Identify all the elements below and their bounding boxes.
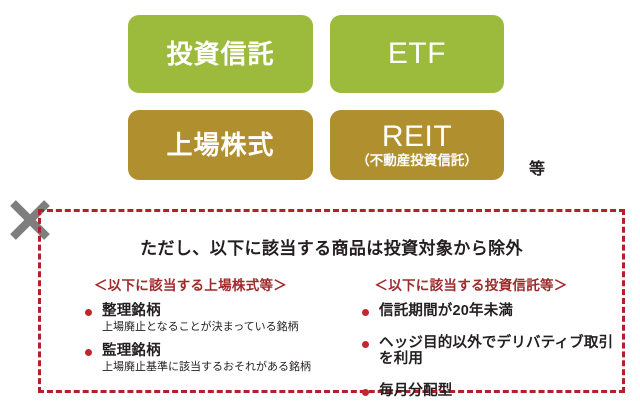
exclusion-panel: ただし、以下に該当する商品は投資対象から除外 ＜以下に該当する上場株式等＞ 整理…	[38, 209, 625, 393]
product-box-listed-stock[interactable]: 上場株式	[128, 110, 313, 180]
product-box-investment-trust[interactable]: 投資信託	[128, 15, 313, 93]
list-item-title: 監理銘柄	[102, 343, 328, 360]
list-item: 信託期間が20年未満	[358, 303, 622, 320]
list-item: ヘッジ目的以外でデリバティブ取引を利用	[358, 335, 622, 368]
exclusion-list-stocks: 整理銘柄 上場廃止となることが決まっている銘柄 監理銘柄 上場廃止基準に該当する…	[53, 303, 328, 374]
list-item: 監理銘柄 上場廃止基準に該当するおそれがある銘柄	[81, 343, 328, 374]
list-item-description: 上場廃止基準に該当するおそれがある銘柄	[102, 361, 328, 374]
list-item: 毎月分配型	[358, 383, 622, 400]
product-box-label: 投資信託	[166, 41, 274, 67]
list-item-title: 信託期間が20年未満	[379, 303, 622, 320]
exclusion-list-funds: 信託期間が20年未満 ヘッジ目的以外でデリバティブ取引を利用 毎月分配型	[328, 303, 622, 400]
product-box-etf[interactable]: ETF	[330, 15, 504, 93]
exclusion-panel-title: ただし、以下に該当する商品は投資対象から除外	[41, 234, 622, 259]
product-box-label: REIT	[382, 122, 452, 152]
list-item-title: ヘッジ目的以外でデリバティブ取引を利用	[379, 335, 622, 368]
exclusion-column-funds: ＜以下に該当する投資信託等＞ 信託期間が20年未満 ヘッジ目的以外でデリバティブ…	[328, 274, 622, 415]
list-item-description: 上場廃止となることが決まっている銘柄	[102, 321, 328, 334]
exclusion-columns: ＜以下に該当する上場株式等＞ 整理銘柄 上場廃止となることが決まっている銘柄 監…	[41, 274, 622, 415]
product-category-grid: 投資信託 ETF 上場株式 REIT （不動産投資信託）	[128, 15, 504, 180]
product-box-reit[interactable]: REIT （不動産投資信託）	[330, 110, 504, 180]
product-box-sublabel: （不動産投資信託）	[356, 154, 478, 168]
exclusion-column-stocks: ＜以下に該当する上場株式等＞ 整理銘柄 上場廃止となることが決まっている銘柄 監…	[41, 274, 328, 415]
exclusion-column-heading: ＜以下に該当する投資信託等＞	[328, 274, 622, 294]
product-box-label: 上場株式	[166, 132, 274, 158]
product-box-label: ETF	[388, 39, 446, 69]
etcetera-label: 等	[529, 162, 545, 178]
list-item: 整理銘柄 上場廃止となることが決まっている銘柄	[81, 303, 328, 334]
exclusion-column-heading: ＜以下に該当する上場株式等＞	[53, 274, 328, 294]
list-item-title: 整理銘柄	[102, 303, 328, 320]
list-item-title: 毎月分配型	[379, 383, 622, 400]
